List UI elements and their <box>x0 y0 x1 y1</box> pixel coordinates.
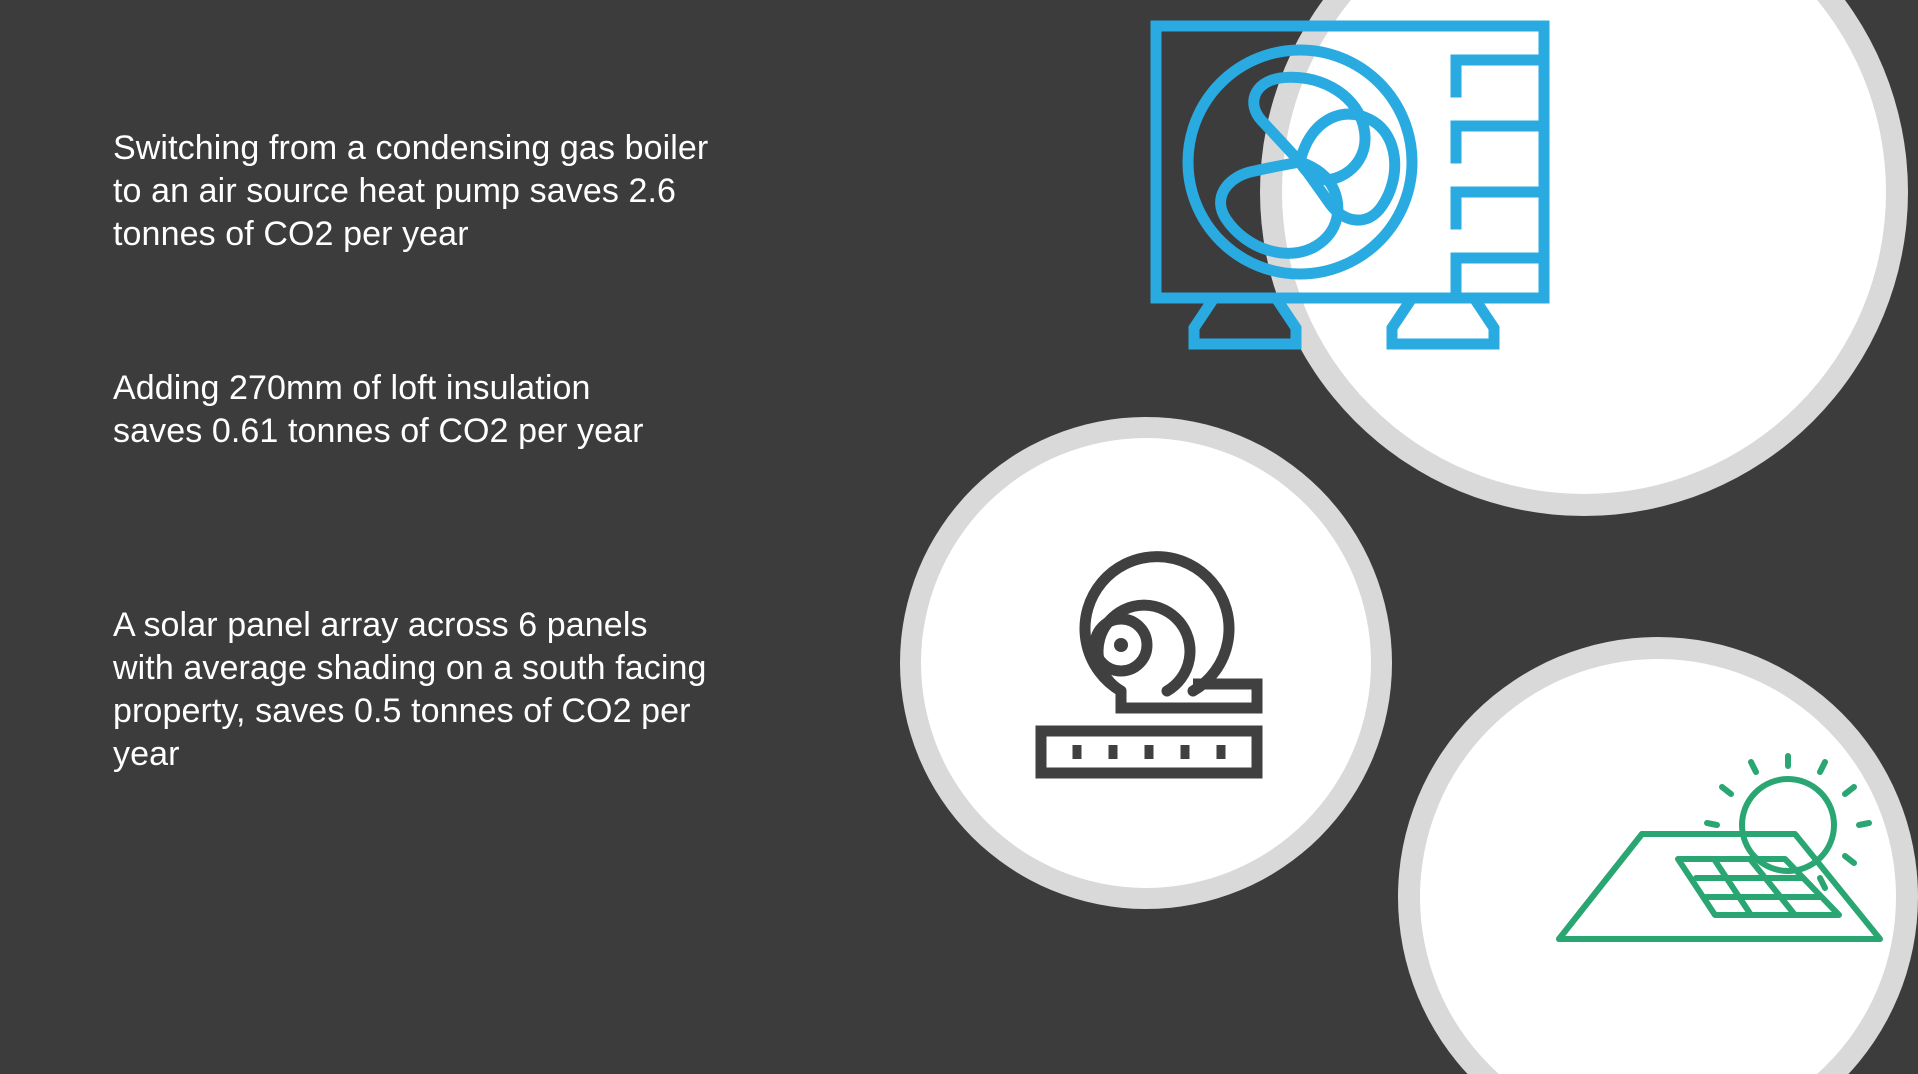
fact-heat-pump: Switching from a condensing gas boiler t… <box>113 127 713 256</box>
insulation-roll-icon <box>1015 545 1290 780</box>
slide-canvas: Switching from a condensing gas boiler t… <box>0 0 1918 1074</box>
fact-loft-insulation: Adding 270mm of loft insulation saves 0.… <box>113 367 673 453</box>
fact-solar-panel: A solar panel array across 6 panels with… <box>113 604 713 776</box>
facts-text-column: Switching from a condensing gas boiler t… <box>113 0 733 1074</box>
solar-panel-roof-icon <box>1545 760 1890 1000</box>
heat-pump-icon <box>1150 20 1550 350</box>
